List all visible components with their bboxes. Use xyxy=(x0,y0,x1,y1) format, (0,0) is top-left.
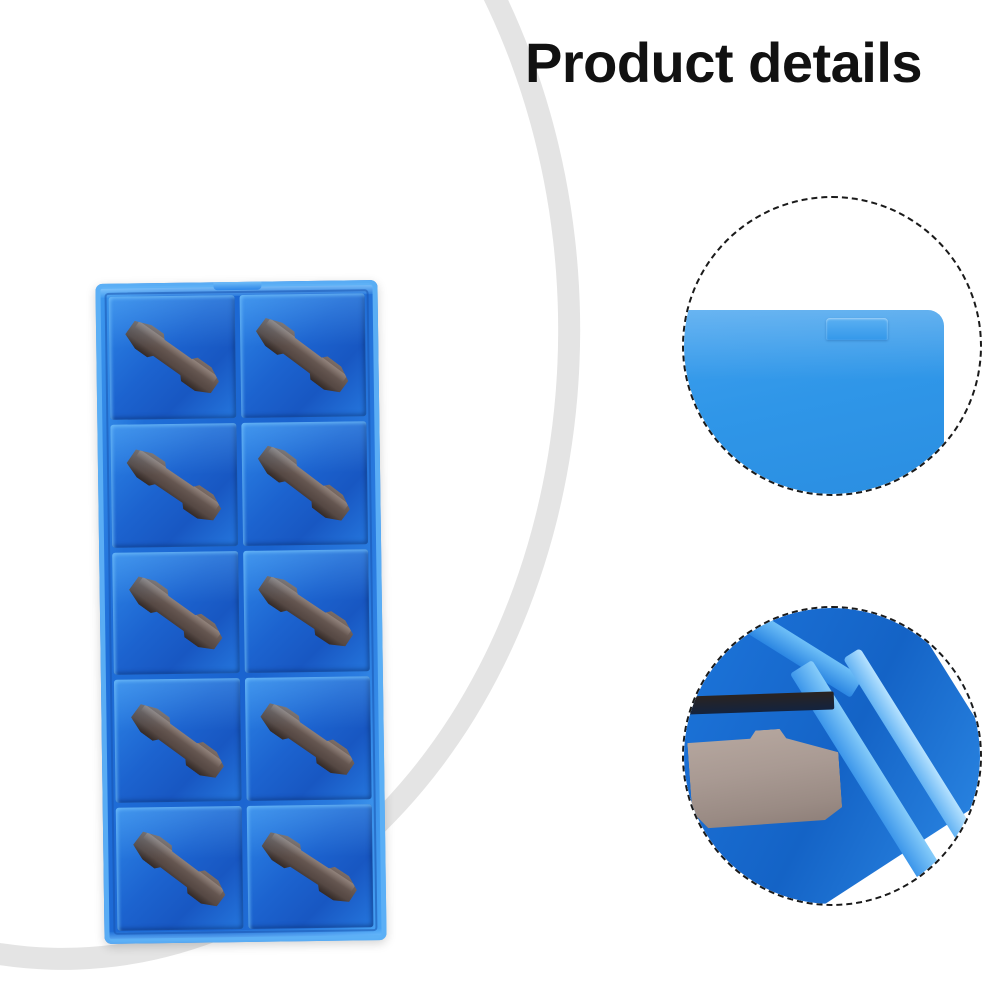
carbide-insert xyxy=(258,827,361,908)
insert-seat-scene xyxy=(684,608,980,904)
case-corner-surface xyxy=(684,310,944,494)
carbide-insert-body xyxy=(257,698,359,781)
carbide-insert xyxy=(127,699,228,784)
tray-compartment xyxy=(116,806,243,931)
tray-compartment xyxy=(239,293,366,418)
carbide-insert xyxy=(254,441,354,527)
carbide-insert xyxy=(129,826,230,912)
carbide-insert-highlight xyxy=(268,576,352,635)
compartment-grid xyxy=(109,293,374,931)
tray-compartment xyxy=(112,551,239,676)
carbide-insert-body xyxy=(254,441,354,527)
tray-compartment xyxy=(243,549,370,674)
carbide-insert-body xyxy=(255,571,358,653)
tray-compartment xyxy=(241,421,368,546)
tray-compartment xyxy=(110,423,237,548)
carbide-insert-highlight xyxy=(136,450,219,510)
carbide-insert-body xyxy=(123,444,225,526)
carbide-insert-shadow xyxy=(123,334,209,398)
case-latch-tab xyxy=(826,318,888,340)
carbide-insert-highlight xyxy=(141,704,223,767)
carbide-insert xyxy=(123,444,225,526)
magnified-insert xyxy=(687,725,843,833)
carbide-insert-highlight xyxy=(270,704,353,765)
carbide-insert-body xyxy=(252,313,353,398)
carbide-insert-highlight xyxy=(143,832,224,896)
carbide-insert-shadow xyxy=(259,716,346,779)
carbide-insert-shadow xyxy=(129,717,214,783)
carbide-insert-highlight xyxy=(268,447,349,511)
tray-compartment xyxy=(246,804,373,929)
carbide-insert xyxy=(252,313,353,398)
carbide-insert-body xyxy=(129,826,230,912)
carbide-insert-shadow xyxy=(256,459,340,526)
product-detail-image: Product details xyxy=(0,0,1000,1000)
carbide-insert xyxy=(255,571,358,653)
carbide-insert-body xyxy=(127,699,228,784)
carbide-insert xyxy=(121,316,223,400)
carbide-insert-body xyxy=(125,571,226,655)
callout-case-corner xyxy=(682,196,982,496)
callout-insert-seat xyxy=(682,606,982,906)
carbide-insert-highlight xyxy=(135,322,218,383)
page-title: Product details xyxy=(525,34,975,93)
carbide-insert-shadow xyxy=(254,331,339,397)
carbide-insert-shadow xyxy=(260,845,348,906)
carbide-insert-body xyxy=(258,827,361,908)
carbide-insert-shadow xyxy=(131,844,216,911)
carbide-insert-highlight xyxy=(271,832,355,891)
tray-body xyxy=(95,280,386,944)
magnified-insert-body xyxy=(687,725,843,833)
carbide-insert-shadow xyxy=(257,589,345,651)
carbide-insert-highlight xyxy=(266,319,347,382)
tray-compartment xyxy=(109,295,236,420)
carbide-insert-body xyxy=(121,316,223,400)
tray-compartment xyxy=(114,678,241,803)
callout-insert-seat-content xyxy=(684,608,980,904)
product-tray xyxy=(95,280,386,944)
callout-case-corner-content xyxy=(684,198,980,494)
tray-compartment xyxy=(244,677,371,802)
carbide-insert-highlight xyxy=(139,577,221,639)
carbide-insert xyxy=(125,571,226,655)
carbide-insert xyxy=(257,698,359,781)
carbide-insert-shadow xyxy=(125,463,212,526)
carbide-insert-shadow xyxy=(127,589,213,654)
